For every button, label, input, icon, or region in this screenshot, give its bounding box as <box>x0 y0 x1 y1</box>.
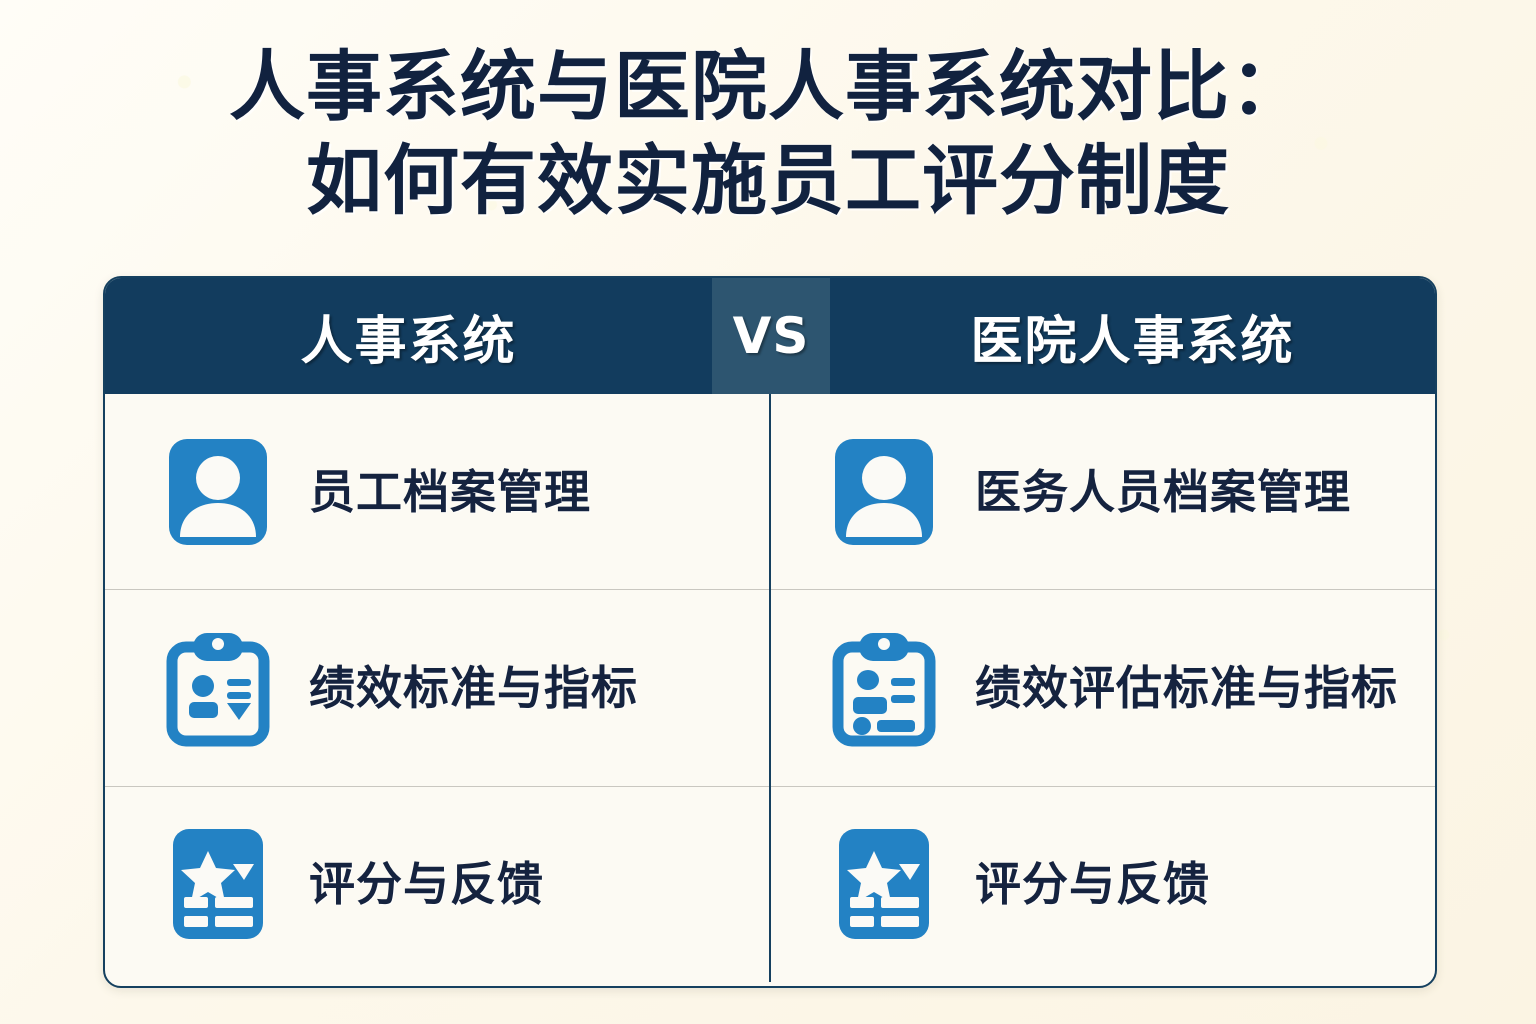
header-vs-badge: VS <box>712 278 830 394</box>
row-3-left: 评分与反馈 <box>105 787 769 982</box>
title-line-2: 如何有效实施员工评分制度 <box>0 134 1536 228</box>
row-1-left-label: 员工档案管理 <box>309 461 591 523</box>
comparison-table: 人事系统 VS 医院人事系统 员工档案管理 <box>103 276 1437 988</box>
column-hospital-hr-system: 医务人员档案管理 <box>771 394 1435 982</box>
person-card-icon <box>163 433 273 551</box>
row-2-left: 绩效标准与指标 <box>105 590 769 786</box>
clipboard-list-icon <box>829 629 939 747</box>
page-title: 人事系统与医院人事系统对比： 如何有效实施员工评分制度 <box>0 40 1536 228</box>
star-rating-icon <box>163 825 273 943</box>
row-1-left: 员工档案管理 <box>105 394 769 590</box>
title-line-1: 人事系统与医院人事系统对比： <box>0 40 1536 134</box>
row-3-right: 评分与反馈 <box>771 787 1435 982</box>
row-3-left-label: 评分与反馈 <box>309 853 544 915</box>
comparison-rows: 员工档案管理 <box>105 394 1435 982</box>
row-3-right-label: 评分与反馈 <box>975 853 1210 915</box>
row-1-right-label: 医务人员档案管理 <box>975 461 1351 523</box>
row-2-left-label: 绩效标准与指标 <box>309 657 638 719</box>
column-hr-system: 员工档案管理 <box>105 394 771 982</box>
person-card-icon <box>829 433 939 551</box>
header-right-system: 医院人事系统 <box>830 278 1435 394</box>
row-2-right: 绩效评估标准与指标 <box>771 590 1435 786</box>
row-1-right: 医务人员档案管理 <box>771 394 1435 590</box>
star-rating-icon <box>829 825 939 943</box>
clipboard-person-icon <box>163 629 273 747</box>
infographic-canvas: 人事系统与医院人事系统对比： 如何有效实施员工评分制度 人事系统 VS 医院人事… <box>0 0 1536 1024</box>
row-2-right-label: 绩效评估标准与指标 <box>975 657 1398 719</box>
header-left-system: 人事系统 <box>105 278 712 394</box>
comparison-table-header: 人事系统 VS 医院人事系统 <box>105 278 1435 394</box>
